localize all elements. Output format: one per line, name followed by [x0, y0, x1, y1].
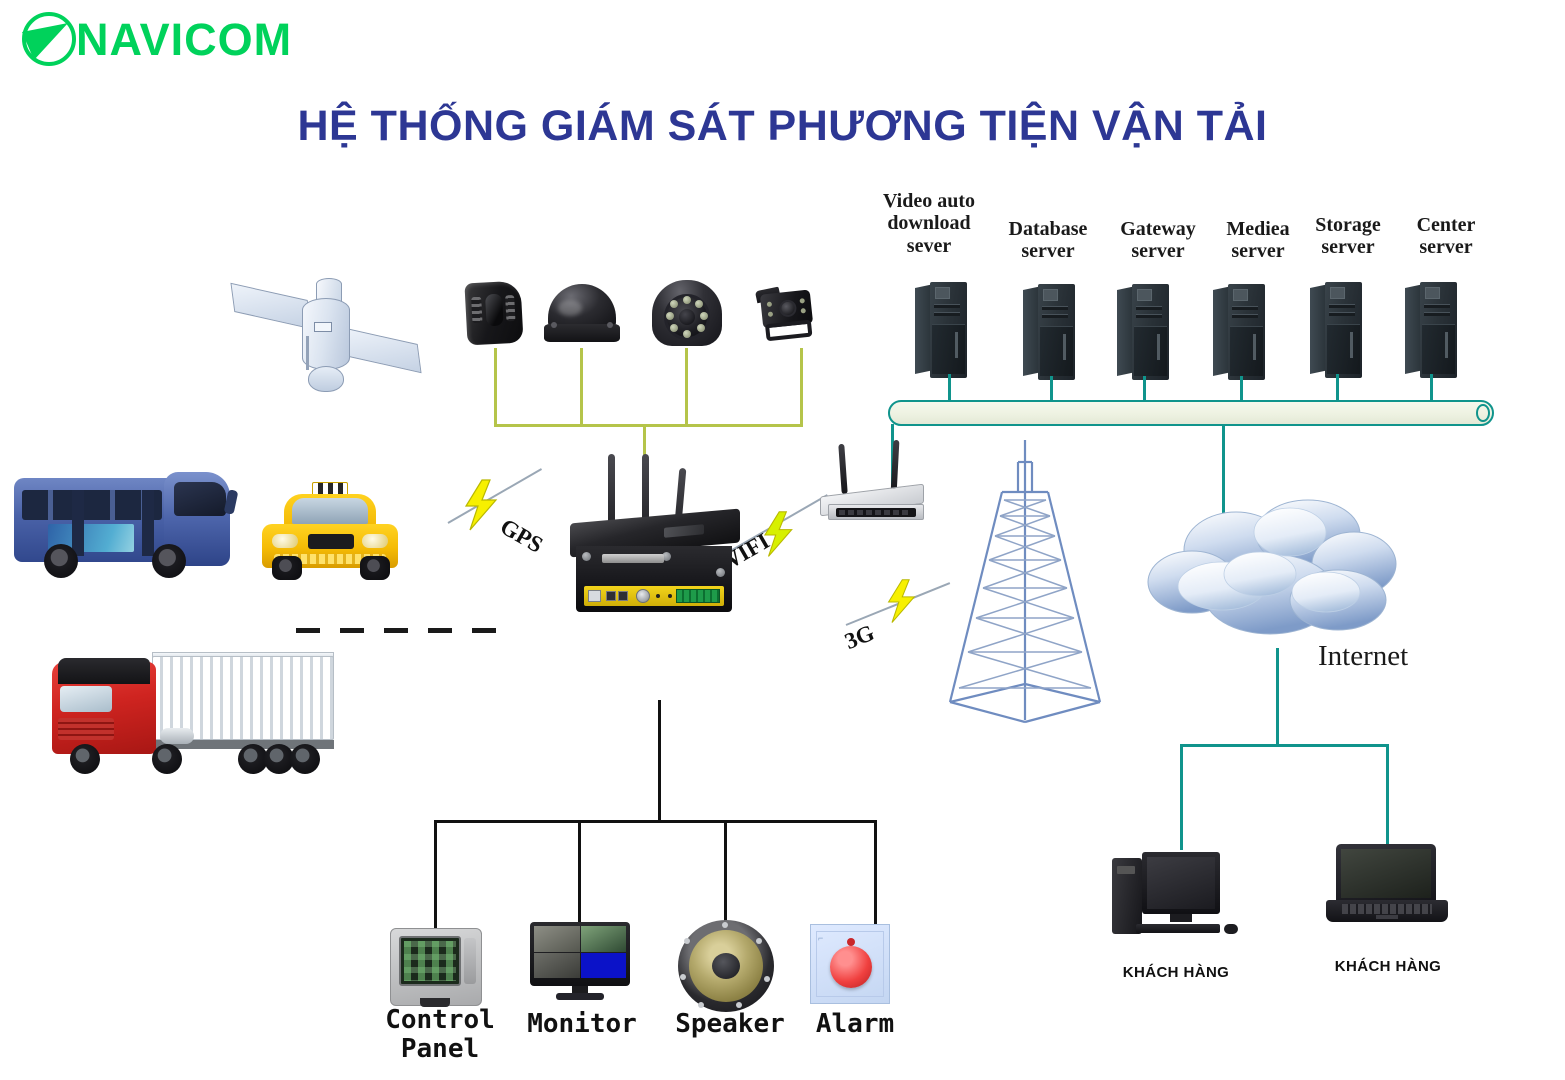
server-label-video-auto-download: Video auto download sever [876, 190, 982, 257]
server-label-gateway: Gateway server [1105, 218, 1211, 263]
peripheral-link [578, 820, 581, 926]
gps-satellite-icon [240, 270, 420, 410]
server-tower[interactable] [915, 282, 967, 374]
gps-radio-link: GPS [446, 470, 562, 556]
vehicle-group-divider [296, 628, 512, 633]
page-title: HỆ THỐNG GIÁM SÁT PHƯƠNG TIỆN VẬN TẢI [0, 102, 1565, 151]
camera-link [494, 348, 497, 426]
peripheral-bus [434, 820, 876, 823]
speaker-icon[interactable] [678, 920, 774, 1012]
alarm-label: Alarm [800, 1010, 910, 1039]
server-tower[interactable] [1023, 284, 1075, 376]
cell-tower-icon [940, 440, 1110, 735]
server-tower[interactable] [1213, 284, 1265, 376]
wifi-router[interactable] [814, 434, 934, 530]
peripheral-link [874, 820, 877, 924]
server-label-database: Database server [995, 218, 1101, 263]
client-link [1386, 744, 1389, 846]
peripheral-link [434, 820, 437, 932]
cloud-trunk-link [1276, 648, 1279, 746]
taxi-icon [256, 472, 404, 584]
camera-bus [494, 424, 803, 427]
compass-arrow-in-circle-icon [18, 8, 80, 70]
speaker-label: Speaker [660, 1010, 800, 1039]
peripheral-link [724, 820, 727, 922]
client-label-desktop: KHÁCH HÀNG [1096, 964, 1256, 981]
dvr-trunk-link [658, 700, 661, 822]
internet-cloud-icon [1140, 490, 1400, 645]
camera-link [685, 348, 688, 426]
dome-camera-icon[interactable] [544, 284, 620, 342]
server-label-center: Center server [1398, 214, 1494, 259]
desktop-pc-icon[interactable] [1112, 846, 1240, 946]
alarm-button-icon[interactable]: ⌐ [810, 924, 890, 1004]
gps-label: GPS [496, 514, 548, 559]
client-bus [1180, 744, 1388, 747]
server-label-mediea: Mediea server [1208, 218, 1308, 263]
server-tower[interactable] [1117, 284, 1169, 376]
bullet-camera-icon[interactable] [466, 282, 522, 344]
navicom-logo: NAVICOM [18, 8, 292, 70]
box-camera-icon[interactable] [756, 286, 818, 342]
laptop-icon[interactable] [1326, 844, 1448, 928]
network-backbone [888, 400, 1494, 426]
ir-dome-camera-icon[interactable] [652, 280, 722, 346]
client-label-laptop: KHÁCH HÀNG [1308, 958, 1468, 975]
control-panel-label: Control Panel [360, 1006, 520, 1064]
monitor-icon[interactable] [530, 922, 630, 1004]
server-label-storage: Storage server [1300, 214, 1396, 259]
camera-link [580, 348, 583, 426]
cargo-truck-icon [48, 644, 336, 780]
server-tower[interactable] [1310, 282, 1362, 374]
city-bus-icon [14, 468, 236, 584]
backbone-endcap-icon [1476, 404, 1490, 422]
camera-link [800, 348, 803, 426]
brand-name: NAVICOM [76, 17, 292, 62]
mobile-dvr[interactable] [566, 494, 744, 624]
internet-label: Internet [1318, 640, 1408, 673]
server-tower[interactable] [1405, 282, 1457, 374]
client-link [1180, 744, 1183, 850]
monitor-label: Monitor [512, 1010, 652, 1039]
diagram-canvas: NAVICOM HỆ THỐNG GIÁM SÁT PHƯƠNG TIỆN VẬ… [0, 0, 1565, 1080]
control-panel-icon[interactable] [390, 928, 482, 1006]
